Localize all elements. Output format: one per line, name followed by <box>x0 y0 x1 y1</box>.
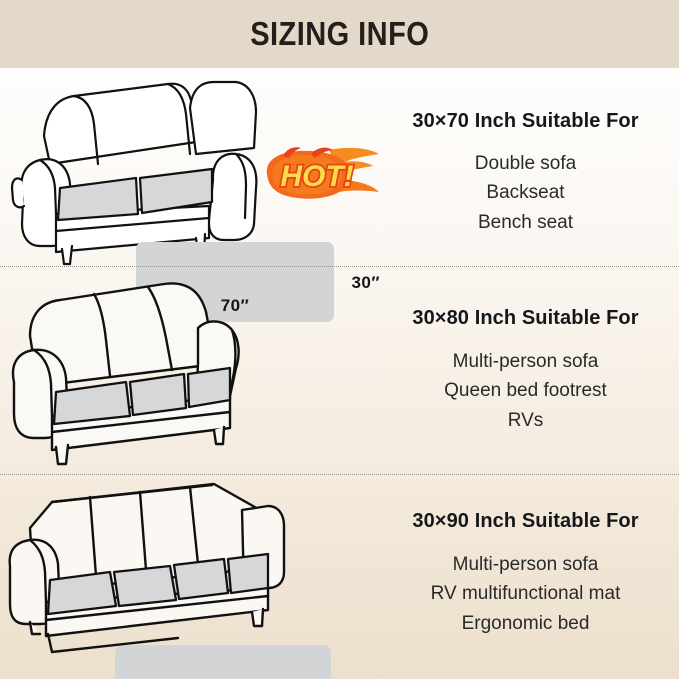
row-divider <box>0 266 679 267</box>
size-row-30x70: 70″ 30″ HOT! 30×70 Inch Suit <box>0 68 679 266</box>
size-row-30x90: 90″ 30″ 30×90 Inch Suitable For Multi-pe… <box>0 476 679 679</box>
illustration-three-seat-sofa: 80″ 30″ <box>0 268 372 474</box>
size-heading: 30×90 Inch Suitable For <box>412 510 638 533</box>
text-block-30x90: 30×90 Inch Suitable For Multi-person sof… <box>372 476 679 679</box>
use-item: Queen bed footrest <box>444 376 607 405</box>
header-banner: SIZING INFO <box>0 0 679 68</box>
hot-flame-badge: HOT! <box>253 146 381 204</box>
use-item: Double sofa <box>475 149 576 178</box>
use-item: Backseat <box>486 178 564 207</box>
page-title: SIZING INFO <box>250 15 429 53</box>
illustration-two-seat-sofa: 70″ 30″ HOT! <box>0 68 372 266</box>
three-seat-modern-sofa-drawing <box>0 268 372 474</box>
use-item: RVs <box>508 406 544 435</box>
sizing-info-infographic: SIZING INFO <box>0 0 679 679</box>
use-item: Multi-person sofa <box>453 347 599 376</box>
illustration-four-seat-sofa: 90″ 30″ <box>0 476 372 679</box>
size-heading: 30×80 Inch Suitable For <box>412 307 638 330</box>
row-divider <box>0 474 679 475</box>
size-heading: 30×70 Inch Suitable For <box>412 110 638 133</box>
four-seat-sectional-sofa-drawing <box>0 476 372 679</box>
size-row-30x80: 80″ 30″ 30×80 Inch Suitable For Multi-pe… <box>0 268 679 474</box>
hot-badge-label: HOT! <box>280 160 353 193</box>
use-list: Multi-person sofa RV multifunctional mat… <box>431 533 621 638</box>
use-item: RV multifunctional mat <box>431 579 621 608</box>
use-item: Ergonomic bed <box>462 609 590 638</box>
use-item: Bench seat <box>478 208 573 237</box>
use-list: Multi-person sofa Queen bed footrest RVs <box>444 330 607 435</box>
use-item: Multi-person sofa <box>453 550 599 579</box>
use-list: Double sofa Backseat Bench seat <box>475 133 576 237</box>
